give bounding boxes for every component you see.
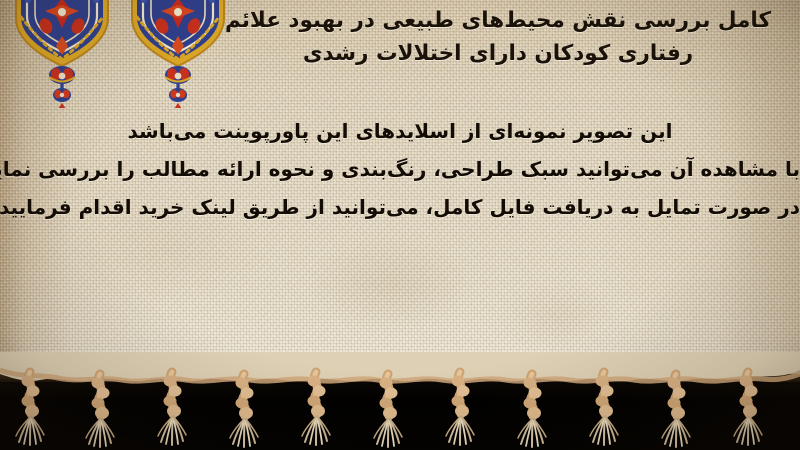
slide-title: کامل بررسی نقش محیط‌های طبیعی در بهبود ع… [208, 4, 788, 70]
bottom-black-band [0, 374, 800, 450]
slide-body-line-3: در صورت تمایل به دریافت فایل کامل، می‌تو… [0, 188, 800, 226]
slide-body: این تصویر نمونه‌ای از اسلایدهای این پاور… [0, 112, 800, 226]
slide-title-line-2: رفتاری کودکان دارای اختلالات رشدی [208, 37, 788, 70]
slide-body-line-2: با مشاهده آن می‌توانید سبک طراحی، رنگ‌بن… [0, 150, 800, 188]
slide-title-line-1: کامل بررسی نقش محیط‌های طبیعی در بهبود ع… [208, 4, 788, 37]
presentation-slide: کامل بررسی نقش محیط‌های طبیعی در بهبود ع… [0, 0, 800, 450]
slide-body-line-1: این تصویر نمونه‌ای از اسلایدهای این پاور… [0, 112, 800, 150]
